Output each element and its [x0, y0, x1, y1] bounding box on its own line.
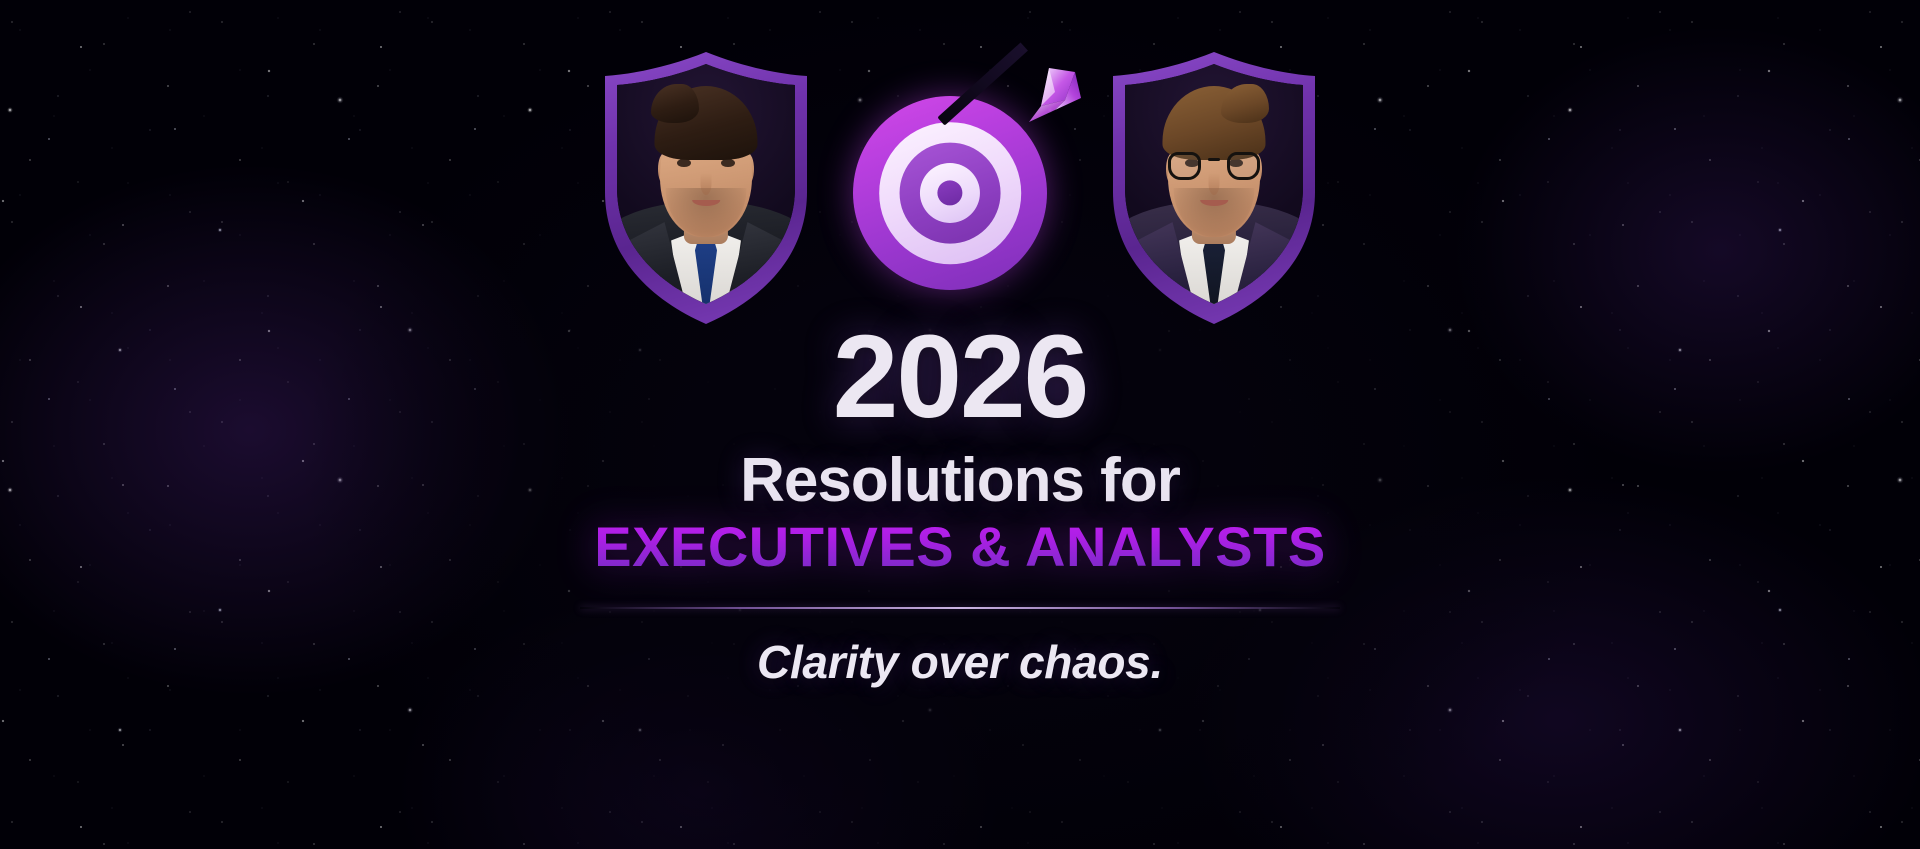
target-bullseye-icon [845, 60, 1075, 310]
audience-subtitle: EXECUTIVES & ANALYSTS [0, 516, 1920, 578]
arrow-fletching-icon [1015, 66, 1083, 140]
analyst-avatar-right [1109, 52, 1319, 324]
headline-text: Resolutions for [0, 448, 1920, 514]
glasses-lens-left [1168, 152, 1201, 180]
hero-icon-row [0, 52, 1920, 352]
divider-line [580, 607, 1340, 609]
glasses-bridge [1208, 158, 1221, 161]
glasses-lens-right [1227, 152, 1260, 180]
tagline-text: Clarity over chaos. [0, 635, 1920, 689]
banner-text-block: 2026 Resolutions for EXECUTIVES & ANALYS… [0, 318, 1920, 689]
year-title: 2026 [0, 318, 1920, 436]
executive-avatar-left [601, 52, 811, 324]
resolutions-banner: 2026 Resolutions for EXECUTIVES & ANALYS… [0, 0, 1920, 849]
